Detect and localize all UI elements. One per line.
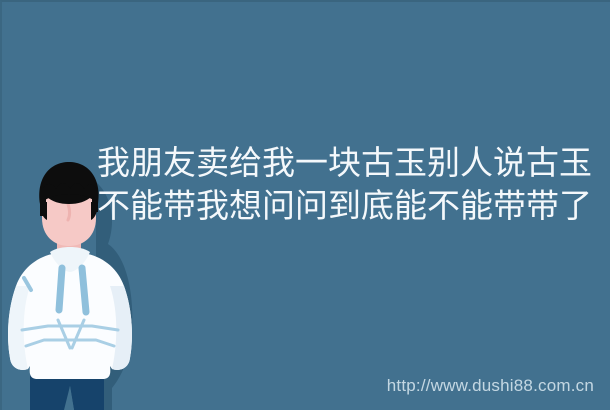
headline-text: 我朋友卖给我一块古玉别人说古玉 不能带我想问问到底能不能带带了: [97, 141, 597, 227]
watermark-url: http://www.dushi88.com.cn: [387, 376, 594, 396]
headline-line-2: 不能带我想问问到底能不能带带了: [97, 184, 597, 227]
headline-line-1: 我朋友卖给我一块古玉别人说古玉: [97, 141, 597, 184]
poster-canvas: 我朋友卖给我一块古玉别人说古玉 不能带我想问问到底能不能带带了 http://w…: [0, 0, 610, 410]
